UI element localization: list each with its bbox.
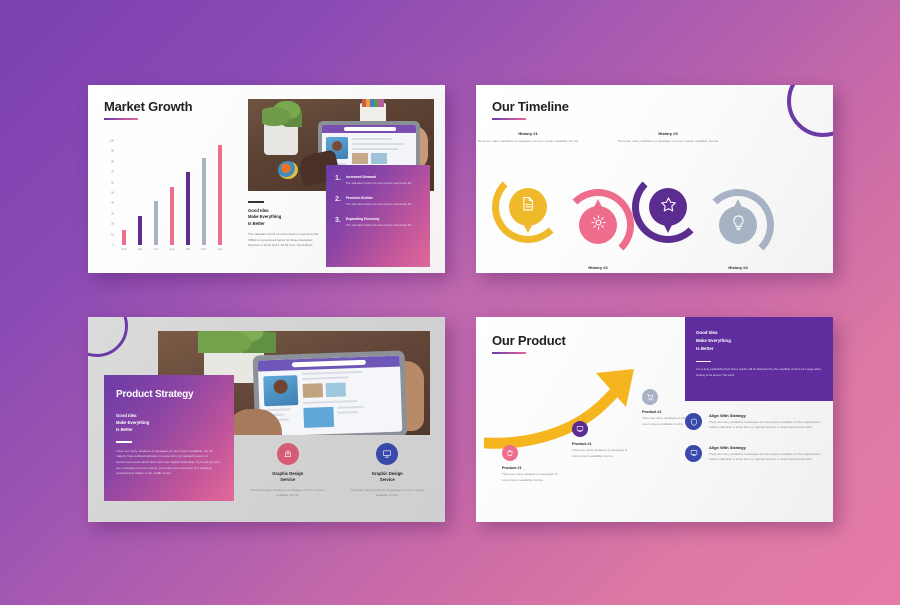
- chart-y-tick: 20: [111, 223, 114, 226]
- star-icon: [660, 196, 677, 213]
- chart-y-tick: 90: [111, 150, 114, 153]
- title-underline: [492, 352, 526, 354]
- list-item-number: 1.: [335, 175, 341, 186]
- monitor-icon: [690, 449, 698, 457]
- list-item-body: The standard chunk of Lorem Ipsum used s…: [346, 202, 412, 207]
- chart-y-tick: 10: [111, 233, 114, 236]
- title-underline: [104, 118, 138, 120]
- star-icon: [660, 196, 677, 218]
- chart-bar-column: [119, 141, 129, 245]
- strategy-row[interactable]: Align With StrategyThere are many variat…: [685, 445, 825, 463]
- list-item-title: Expanding Economy: [346, 217, 412, 221]
- design-icon: [283, 449, 293, 459]
- page-title: Product Strategy: [116, 389, 222, 400]
- title-underline: [492, 118, 526, 120]
- timeline-label: History #4There are many variations of p…: [683, 265, 793, 273]
- chart-bar: [186, 172, 191, 245]
- chart-x-tick: Feb: [119, 247, 129, 259]
- chart-x-axis: FebAprJunAugOctDecJan: [116, 247, 228, 259]
- chart-y-tick: 100: [110, 140, 114, 143]
- timeline-label-title: History #4: [683, 265, 793, 270]
- product-point-icon: [572, 421, 588, 437]
- chart-x-tick: Apr: [135, 247, 145, 259]
- chart-bar-column: [151, 141, 161, 245]
- market-growth-caption: Good Idea Make Everything Is Better The …: [248, 201, 322, 248]
- chart-x-tick: Oct: [183, 247, 193, 259]
- strategy-row[interactable]: Align With StrategyThere are many variat…: [685, 413, 825, 431]
- gear-icon: [590, 214, 607, 236]
- chart-y-axis: 0102030405060708090100: [100, 141, 115, 245]
- cart-icon: [646, 393, 654, 401]
- monitor-icon: [576, 425, 584, 433]
- chart-bar-column: [199, 141, 209, 245]
- timeline-label: History #3There are many variations of p…: [613, 131, 723, 145]
- timeline-node[interactable]: [649, 188, 687, 226]
- list-item: 2.Premium BuilderThe standard chunk of L…: [335, 196, 421, 207]
- timeline-header: Our Timeline: [492, 99, 569, 120]
- our-product-header: Our Product: [492, 333, 566, 354]
- caption-body: The standard chunk of Lorem Ipsum used s…: [248, 232, 322, 248]
- market-growth-header: Market Growth: [104, 99, 192, 120]
- chart-x-tick: Dec: [199, 247, 209, 259]
- list-item-number: 2.: [335, 196, 341, 207]
- timeline-label: History #1There are many variations of p…: [476, 131, 583, 145]
- slide-our-product[interactable]: Our Product Good Idea Make Everything Is…: [476, 317, 833, 522]
- chart-x-tick: Jun: [151, 247, 161, 259]
- product-point-icon: [642, 389, 658, 405]
- timeline-node[interactable]: [579, 206, 617, 244]
- timeline-node[interactable]: [509, 188, 547, 226]
- timeline-label-title: History #3: [613, 131, 723, 136]
- chart-bar-column: [215, 141, 225, 245]
- list-item-title: Premium Builder: [346, 196, 412, 200]
- chart-bar-column: [167, 141, 177, 245]
- list-item-number: 3.: [335, 217, 341, 228]
- chart-bar: [170, 187, 175, 245]
- list-item-title: Increased Demand: [346, 175, 412, 179]
- timeline-label-title: History #2: [543, 265, 653, 270]
- timeline-label-body: There are many variations of passages of…: [613, 139, 723, 145]
- product-point[interactable]: Product #1There are many variations of p…: [572, 421, 630, 459]
- slide-our-timeline[interactable]: Our Timeline History #1There are many va…: [476, 85, 833, 273]
- product-strategy-services: Graphic Design ServiceThere are many var…: [238, 443, 437, 498]
- page-title: Market Growth: [104, 99, 192, 114]
- panel-body: It is a long established fact that a rea…: [696, 367, 822, 378]
- page-title: Our Product: [492, 333, 566, 348]
- product-point-body: There are many variations of passages of…: [572, 448, 630, 459]
- chart-bar-column: [183, 141, 193, 245]
- caption-rule: [248, 201, 264, 203]
- chart-x-tick: Jan: [215, 247, 225, 259]
- strategy-row-title: Align With Strategy: [709, 413, 825, 418]
- chart-bar: [138, 216, 143, 245]
- product-point-body: There are many variations of passages of…: [502, 472, 560, 483]
- chart-bar: [202, 158, 207, 245]
- chart-y-tick: 60: [111, 181, 114, 184]
- product-point[interactable]: Product #1There are many variations of p…: [502, 445, 560, 483]
- service-item[interactable]: Graphic Design ServiceThere are many var…: [245, 443, 331, 498]
- chart-y-tick: 30: [111, 212, 114, 215]
- chart-y-tick: 0: [113, 244, 114, 247]
- product-strategy-card: Product Strategy Good Idea Make Everythi…: [104, 375, 234, 501]
- chart-y-tick: 80: [111, 160, 114, 163]
- chart-y-tick: 40: [111, 202, 114, 205]
- strategy-row-icon: [685, 413, 702, 430]
- list-item-body: The standard chunk of Lorem Ipsum used s…: [346, 181, 412, 186]
- card-rule: [116, 441, 132, 443]
- timeline-stage: History #1There are many variations of p…: [486, 129, 827, 267]
- panel-rule: [696, 361, 711, 363]
- timeline-label: History #2There are many variations of p…: [543, 265, 653, 273]
- gear-icon: [590, 214, 607, 231]
- our-product-rows: Align With StrategyThere are many variat…: [685, 413, 825, 477]
- list-item: 3.Expanding EconomyThe standard chunk of…: [335, 217, 421, 228]
- product-point-label: Product #1: [572, 442, 630, 446]
- slide-market-growth[interactable]: Market Growth 0102030405060708090100 Feb…: [88, 85, 445, 273]
- our-product-panel: Good Idea Make Everything Is Better It i…: [685, 317, 833, 401]
- service-title: Graphic Design Service: [245, 471, 331, 484]
- chart-bar: [218, 145, 223, 245]
- service-icon-circle: [376, 443, 398, 465]
- product-point-icon: [502, 445, 518, 461]
- list-item: 1.Increased DemandThe standard chunk of …: [335, 175, 421, 186]
- chart-y-tick: 70: [111, 171, 114, 174]
- shield-icon: [690, 418, 698, 426]
- chart-bars: [116, 141, 228, 245]
- chart-x-tick: Aug: [167, 247, 177, 259]
- strategy-row-title: Align With Strategy: [709, 445, 825, 450]
- page-title: Our Timeline: [492, 99, 569, 114]
- timeline-node[interactable]: [719, 206, 757, 244]
- market-growth-list: 1.Increased DemandThe standard chunk of …: [326, 165, 430, 267]
- strategy-row-body: There are many variations of passages of…: [709, 420, 825, 431]
- decorative-arc: [88, 317, 128, 357]
- service-body: There are many variations of passages of…: [245, 488, 331, 499]
- service-item[interactable]: Graphic Design ServiceThere are many var…: [344, 443, 430, 498]
- strategy-row-icon: [685, 445, 702, 462]
- list-item-body: The standard chunk of Lorem Ipsum used s…: [346, 223, 412, 228]
- chart-y-tick: 50: [111, 192, 114, 195]
- product-point-label: Product #1: [502, 466, 560, 470]
- lightbulb-icon: [730, 214, 747, 236]
- chart-bar-column: [135, 141, 145, 245]
- card-subtitle: Good Idea Make Everything Is Better: [116, 412, 222, 433]
- slide-product-strategy[interactable]: Product Strategy Good Idea Make Everythi…: [88, 317, 445, 522]
- document-icon: [520, 196, 537, 218]
- caption-heading: Good Idea Make Everything Is Better: [248, 208, 322, 228]
- document-icon: [520, 196, 537, 213]
- presentation-icon: [382, 449, 392, 459]
- chart-bar: [154, 201, 159, 245]
- chart-bar: [122, 230, 127, 245]
- shopping-bag-icon: [506, 449, 514, 457]
- timeline-label-title: History #1: [476, 131, 583, 136]
- service-title: Graphic Design Service: [344, 471, 430, 484]
- market-growth-chart: 0102030405060708090100 FebAprJunAugOctDe…: [100, 141, 230, 259]
- lightbulb-icon: [730, 214, 747, 231]
- timeline-label-body: There are many variations of passages of…: [476, 139, 583, 145]
- card-body: There are many variations of passages of…: [116, 449, 222, 477]
- service-body: There are many variations of passages of…: [344, 488, 430, 499]
- service-icon-circle: [277, 443, 299, 465]
- strategy-row-body: There are many variations of passages of…: [709, 452, 825, 463]
- panel-subtitle: Good Idea Make Everything Is Better: [696, 329, 822, 353]
